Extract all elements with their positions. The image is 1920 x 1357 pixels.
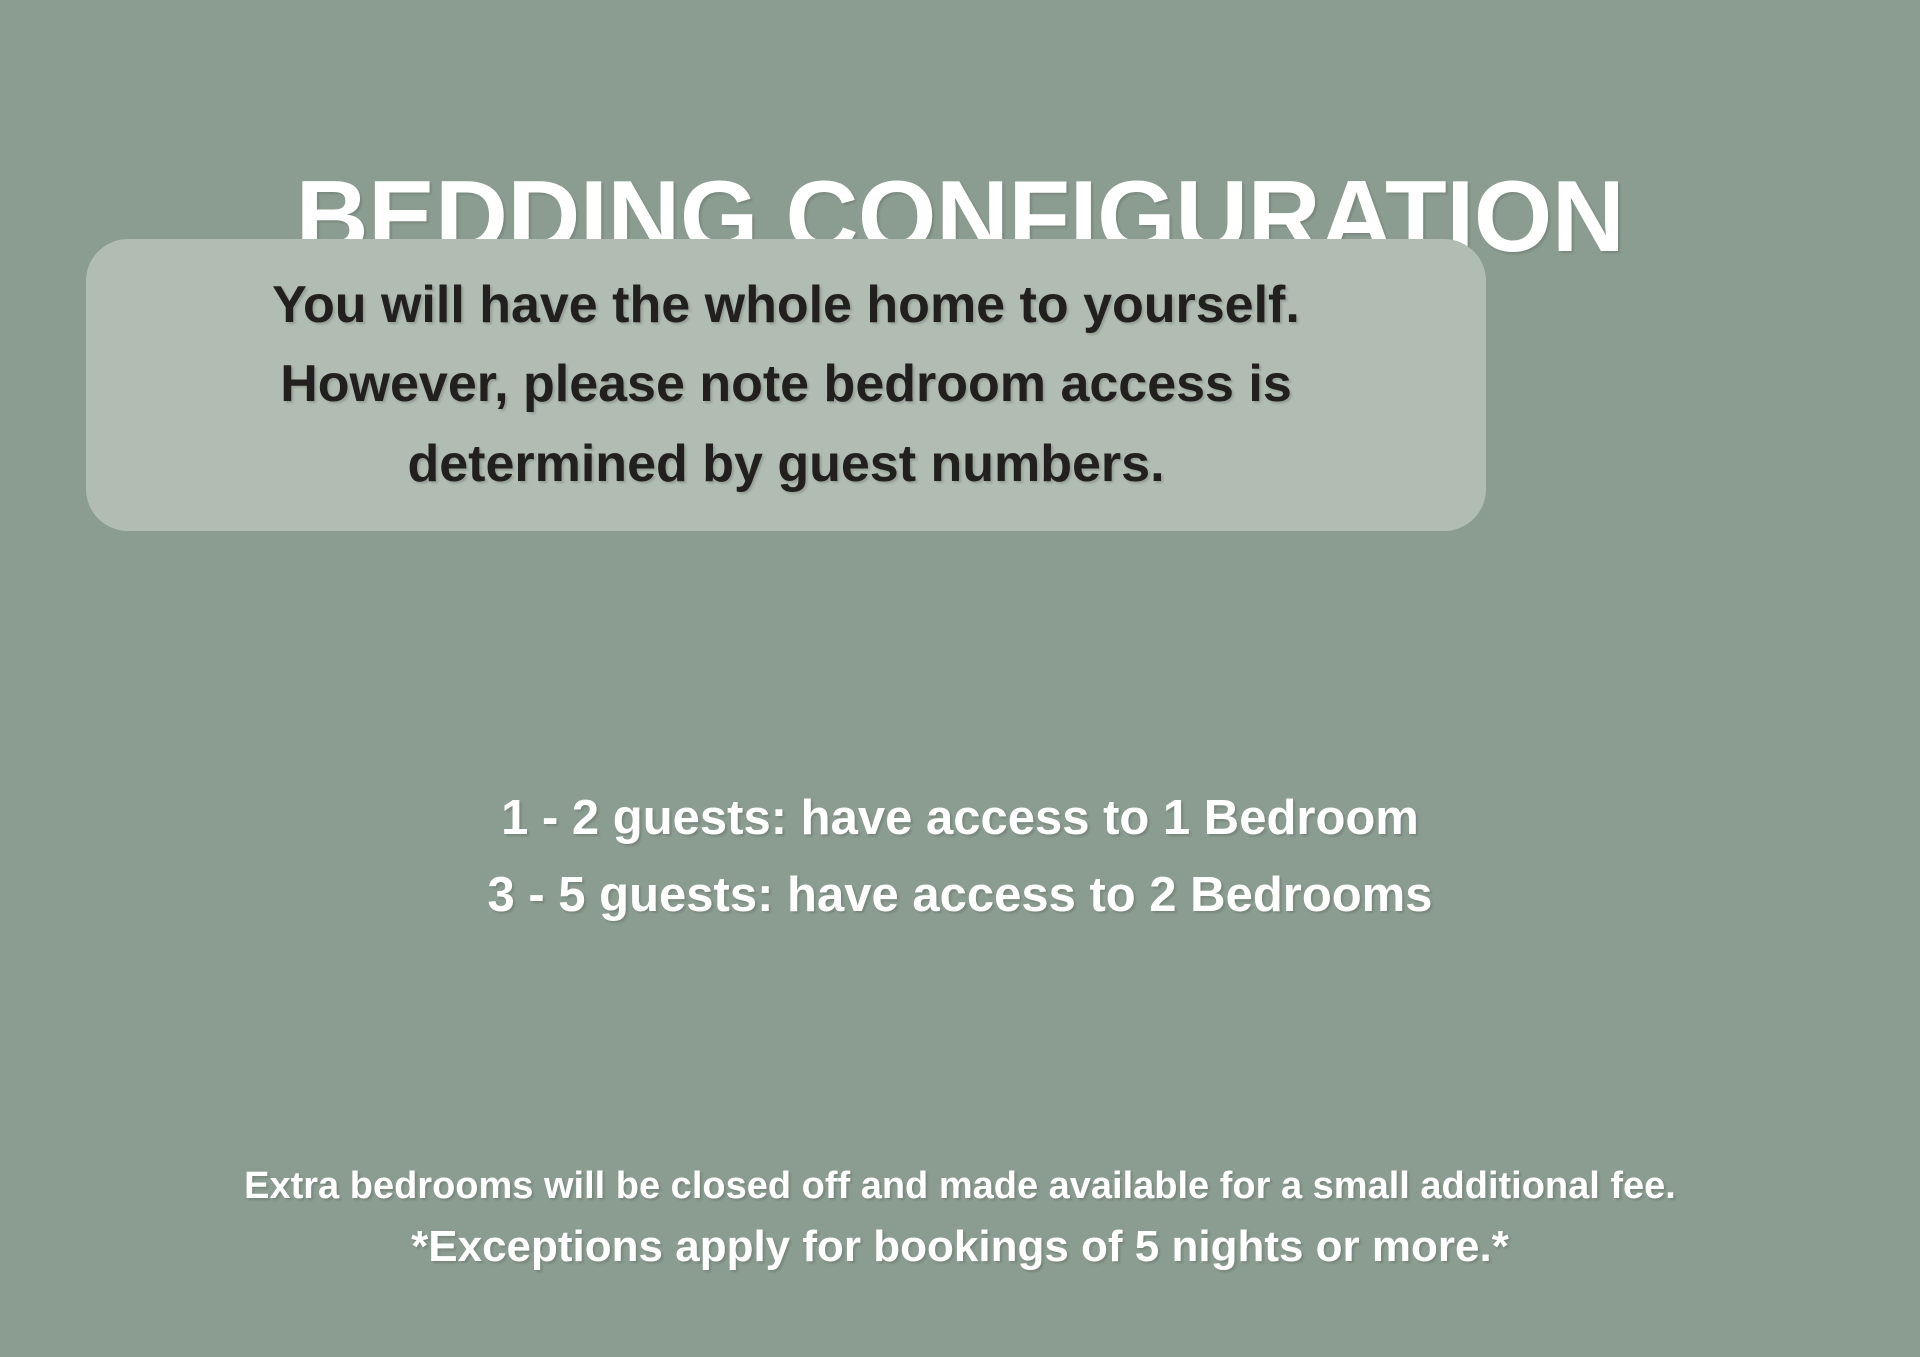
rule-line-1-2-guests: 1 - 2 guests: have access to 1 Bedroom (0, 780, 1920, 857)
notice-line-2: However, please note bedroom access is (280, 345, 1292, 424)
notice-card: You will have the whole home to yourself… (86, 239, 1486, 531)
footnotes: Extra bedrooms will be closed off and ma… (0, 1160, 1920, 1280)
notice-line-1: You will have the whole home to yourself… (272, 266, 1300, 345)
footnote-extra-bedrooms: Extra bedrooms will be closed off and ma… (0, 1160, 1920, 1214)
rule-line-3-5-guests: 3 - 5 guests: have access to 2 Bedrooms (0, 857, 1920, 934)
bedding-configuration-poster: BEDDING CONFIGURATION You will have the … (0, 0, 1920, 1357)
guest-access-rules: 1 - 2 guests: have access to 1 Bedroom 3… (0, 780, 1920, 935)
notice-line-3: determined by guest numbers. (407, 425, 1164, 504)
footnote-exceptions: *Exceptions apply for bookings of 5 nigh… (0, 1214, 1920, 1280)
